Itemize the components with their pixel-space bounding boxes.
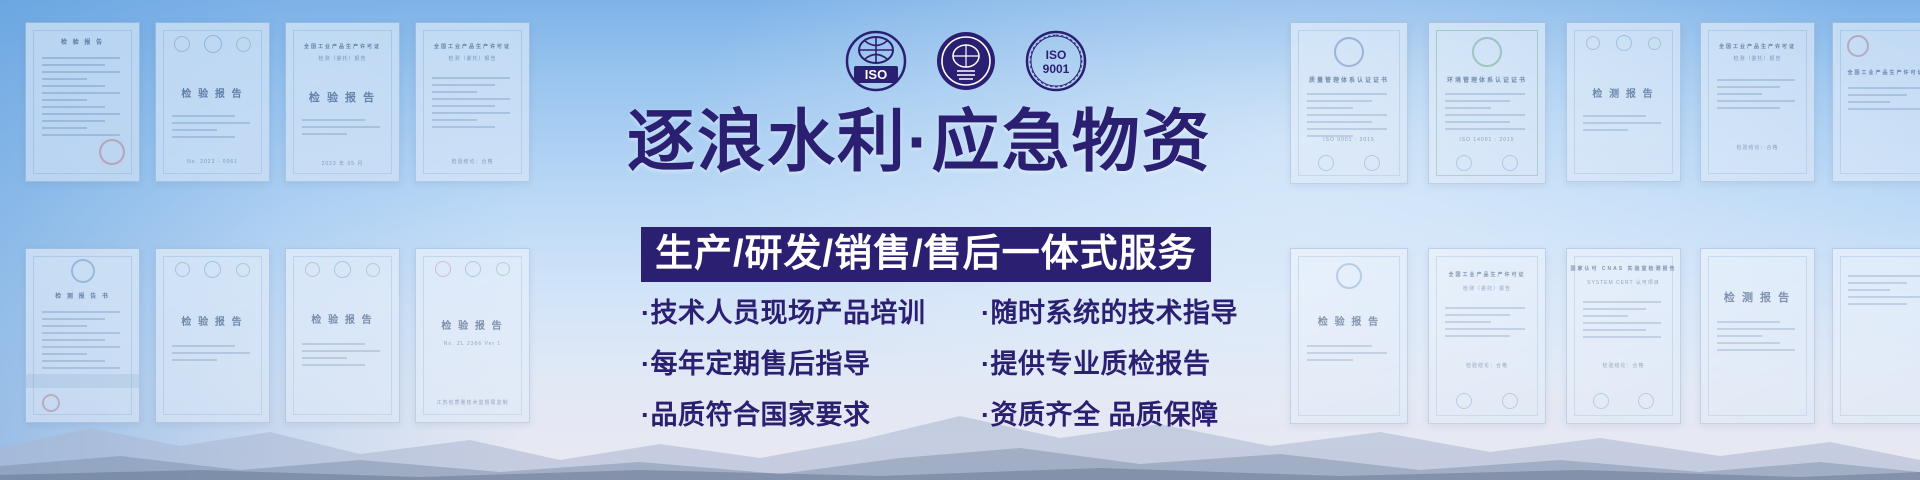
- feature-row: ·技术人员现场产品培训 ·随时系统的技术指导: [641, 300, 1301, 327]
- feature-item: ·技术人员现场产品培训: [641, 300, 981, 327]
- promo-banner: 检 验 报 告 检 验 报 告 No. 2023 - 0061 全国工业产品生产…: [0, 0, 1920, 480]
- feature-list: ·技术人员现场产品培训 ·随时系统的技术指导 ·每年定期售后指导 ·提供专业质检…: [641, 300, 1301, 429]
- subtitle-bar: 生产/研发/销售/售后一体式服务: [641, 227, 1211, 282]
- feature-item: ·资质齐全 品质保障: [981, 402, 1301, 429]
- headline: 逐浪水利·应急物资: [627, 108, 1212, 176]
- banner-copy: 逐浪水利·应急物资 生产/研发/销售/售后一体式服务 ·技术人员现场产品培训 ·…: [0, 0, 1920, 480]
- feature-item: ·每年定期售后指导: [641, 351, 981, 378]
- feature-item: ·提供专业质检报告: [981, 351, 1301, 378]
- feature-row: ·每年定期售后指导 ·提供专业质检报告: [641, 351, 1301, 378]
- feature-item: ·品质符合国家要求: [641, 402, 981, 429]
- subtitle-text: 生产/研发/销售/售后一体式服务: [655, 233, 1197, 275]
- feature-item: ·随时系统的技术指导: [981, 300, 1301, 327]
- feature-row: ·品质符合国家要求 ·资质齐全 品质保障: [641, 402, 1301, 429]
